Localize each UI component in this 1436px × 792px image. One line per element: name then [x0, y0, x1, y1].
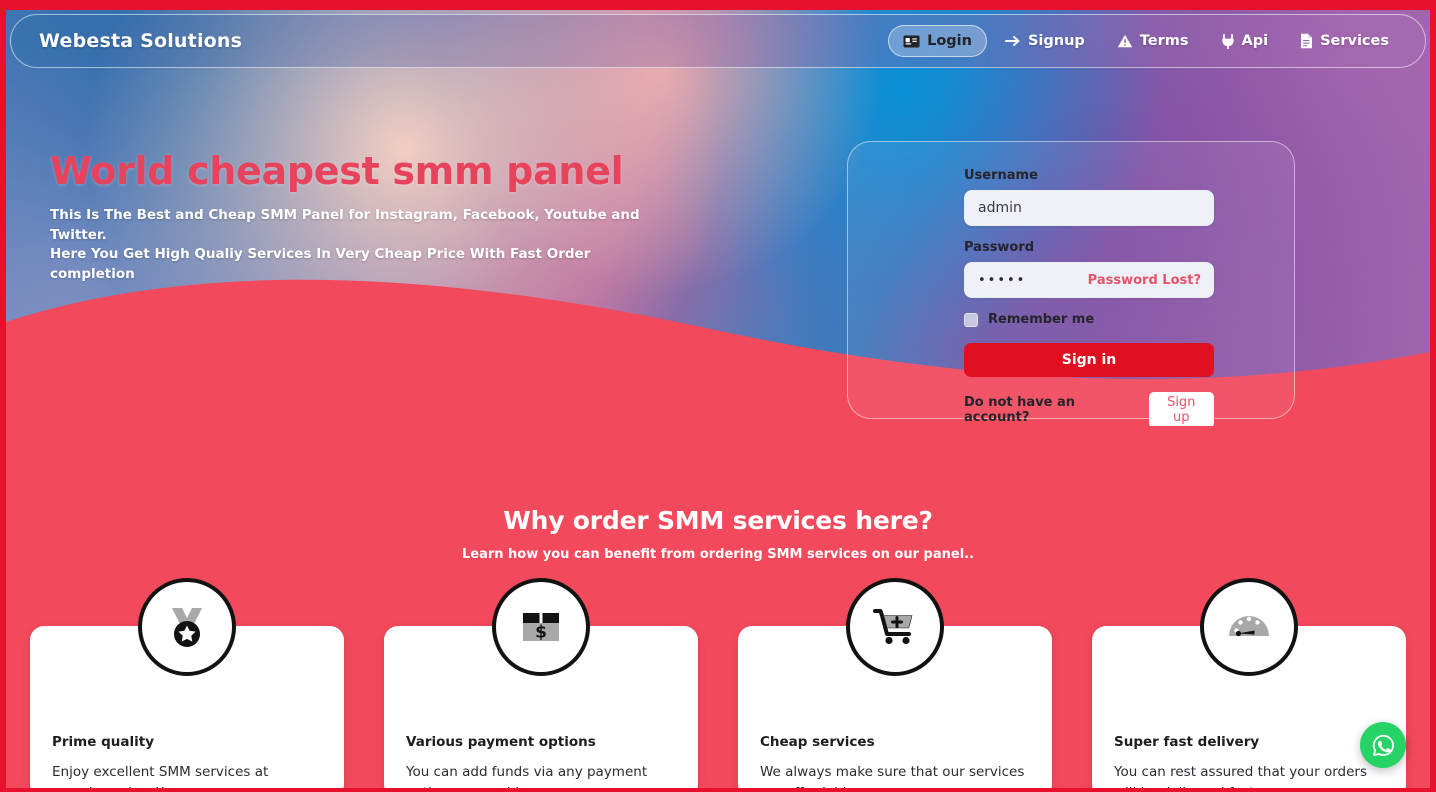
signup-button[interactable]: Sign up: [1149, 392, 1215, 426]
password-label: Password: [964, 240, 1214, 255]
nav-item-services[interactable]: Services: [1286, 26, 1403, 56]
feature-card-description: We always make sure that our services ar…: [760, 762, 1028, 788]
nav-item-services-label: Services: [1320, 33, 1389, 49]
nav-item-terms-label: Terms: [1140, 33, 1189, 49]
remember-me-row: Remember me: [964, 312, 1214, 327]
feature-card-title: Super fast delivery: [1114, 734, 1382, 750]
why-section-subtitle: Learn how you can benefit from ordering …: [6, 547, 1430, 562]
nav-links: Login Signup: [888, 25, 1403, 57]
password-lost-link[interactable]: Password Lost?: [1088, 273, 1201, 288]
top-accent-stripe: [6, 6, 1430, 10]
feature-card: Cheap services We always make sure that …: [738, 626, 1052, 788]
login-card: Username admin Password ••••• Password L…: [847, 141, 1295, 419]
brand-title: Webesta Solutions: [39, 30, 242, 52]
why-section-title: Why order SMM services here?: [6, 506, 1430, 535]
hero-subtitle-line2: Here You Get High Qualiy Services In Ver…: [50, 245, 670, 284]
hero-subtitle-line1: This Is The Best and Cheap SMM Panel for…: [50, 206, 670, 245]
plug-icon: [1221, 34, 1235, 49]
hero-title: World cheapest smm panel: [50, 151, 670, 192]
feature-card: Super fast delivery You can rest assured…: [1092, 626, 1406, 788]
username-label: Username: [964, 168, 1214, 183]
svg-text:$: $: [535, 623, 547, 643]
feature-cards: Prime quality Enjoy excellent SMM servic…: [30, 626, 1406, 788]
nav-item-login[interactable]: Login: [888, 25, 987, 57]
nav-item-signup-label: Signup: [1028, 33, 1085, 49]
feature-card-description: You can rest assured that your orders wi…: [1114, 762, 1382, 788]
feature-card-title: Cheap services: [760, 734, 1028, 750]
hero-subtitle: This Is The Best and Cheap SMM Panel for…: [50, 206, 670, 284]
cart-plus-icon: [846, 578, 944, 676]
arrow-right-icon: [1005, 34, 1021, 48]
no-account-text: Do not have an account?: [964, 395, 1140, 425]
signup-row: Do not have an account? Sign up: [964, 392, 1214, 426]
feature-card: $ Various payment options You can add fu…: [384, 626, 698, 788]
nav-item-api-label: Api: [1242, 33, 1269, 49]
whatsapp-icon[interactable]: [1360, 722, 1406, 768]
document-icon: [1300, 33, 1313, 49]
page-body: Webesta Solutions Login: [6, 6, 1430, 788]
hero-text-block: World cheapest smm panel This Is The Bes…: [50, 151, 670, 284]
feature-card-description: You can add funds via any payment option…: [406, 762, 674, 788]
nav-item-terms[interactable]: Terms: [1103, 26, 1203, 56]
remember-me-checkbox[interactable]: [964, 313, 978, 327]
nav-item-login-label: Login: [927, 33, 972, 49]
signin-button[interactable]: Sign in: [964, 343, 1214, 377]
warning-triangle-icon: [1117, 34, 1133, 48]
feature-card-description: Enjoy excellent SMM services at amazing …: [52, 762, 320, 788]
medal-icon: [138, 578, 236, 676]
top-navbar: Webesta Solutions Login: [10, 14, 1426, 68]
feature-card-title: Various payment options: [406, 734, 674, 750]
nav-item-api[interactable]: Api: [1207, 26, 1283, 56]
speedometer-icon: [1200, 578, 1298, 676]
password-input-value: •••••: [978, 273, 1026, 288]
page-frame: Webesta Solutions Login: [0, 0, 1436, 792]
remember-me-label: Remember me: [988, 312, 1094, 327]
password-input[interactable]: ••••• Password Lost?: [964, 262, 1214, 298]
box-dollar-icon: $: [492, 578, 590, 676]
why-section: Why order SMM services here? Learn how y…: [6, 506, 1430, 562]
username-input-value: admin: [978, 200, 1022, 216]
nav-item-signup[interactable]: Signup: [991, 26, 1099, 56]
username-input[interactable]: admin: [964, 190, 1214, 226]
hero-section: Webesta Solutions Login: [6, 6, 1430, 426]
id-card-icon: [903, 35, 920, 48]
feature-card: Prime quality Enjoy excellent SMM servic…: [30, 626, 344, 788]
feature-card-title: Prime quality: [52, 734, 320, 750]
